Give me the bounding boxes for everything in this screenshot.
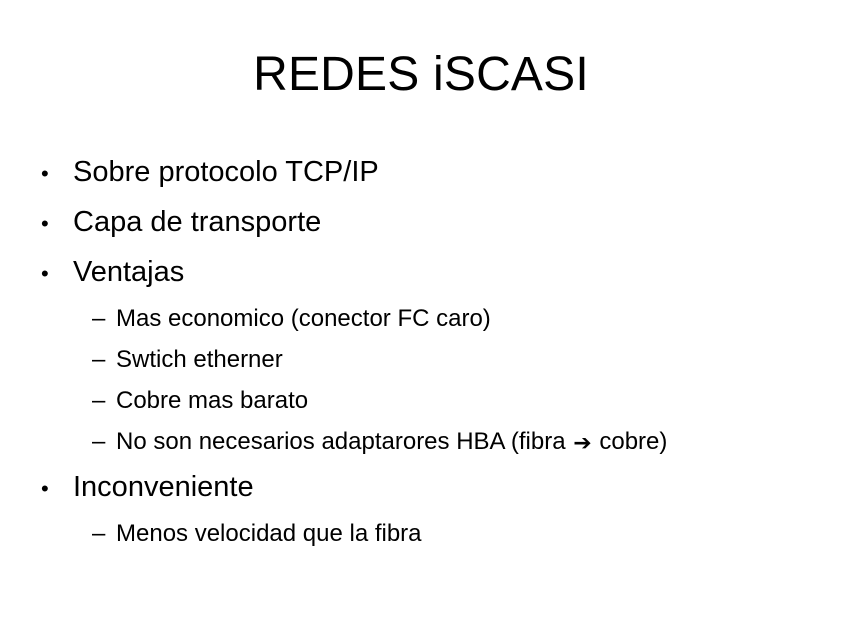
bullet-dot-icon: • <box>41 465 73 513</box>
bullet-dot-icon: • <box>41 200 73 248</box>
bullet-dash-icon: – <box>92 513 116 554</box>
sub-list-item: – No son necesarios adaptarores HBA (fib… <box>0 421 842 463</box>
list-item: • Inconveniente <box>0 463 842 513</box>
sub-list-item: – Swtich etherner <box>0 339 842 380</box>
bullet-dash-icon: – <box>92 380 116 421</box>
list-item: • Ventajas <box>0 248 842 298</box>
list-item-label: Inconveniente <box>73 463 254 511</box>
sub-list-item: – Menos velocidad que la fibra <box>0 513 842 554</box>
list-item: • Capa de transporte <box>0 198 842 248</box>
page-title: REDES iSCASI <box>0 47 842 103</box>
bullet-dot-icon: • <box>41 250 73 298</box>
sub-list-item-label: Mas economico (conector FC caro) <box>116 298 491 339</box>
list-item-label: Ventajas <box>73 248 184 296</box>
sub-list-item-label: No son necesarios adaptarores HBA (fibra… <box>116 421 667 463</box>
bullet-dash-icon: – <box>92 339 116 380</box>
sub-list-item: – Cobre mas barato <box>0 380 842 421</box>
sub-list-item-label-suffix: cobre) <box>593 428 668 455</box>
right-arrow-icon: ➔ <box>572 423 592 464</box>
sub-list-item: – Mas economico (conector FC caro) <box>0 298 842 339</box>
bullet-dash-icon: – <box>92 421 116 462</box>
list-item-label: Capa de transporte <box>73 198 321 246</box>
sub-list-item-label: Swtich etherner <box>116 339 283 380</box>
sub-list-item-label: Menos velocidad que la fibra <box>116 513 422 554</box>
list-item-label: Sobre protocolo TCP/IP <box>73 148 379 196</box>
list-item: • Sobre protocolo TCP/IP <box>0 148 842 198</box>
bullet-dash-icon: – <box>92 298 116 339</box>
bullet-dot-icon: • <box>41 150 73 198</box>
slide-body-content: • Sobre protocolo TCP/IP • Capa de trans… <box>0 148 842 554</box>
sub-list-item-label-prefix: No son necesarios adaptarores HBA (fibra <box>116 428 572 455</box>
sub-list-item-label: Cobre mas barato <box>116 380 308 421</box>
presentation-slide: REDES iSCASI • Sobre protocolo TCP/IP • … <box>0 0 842 631</box>
